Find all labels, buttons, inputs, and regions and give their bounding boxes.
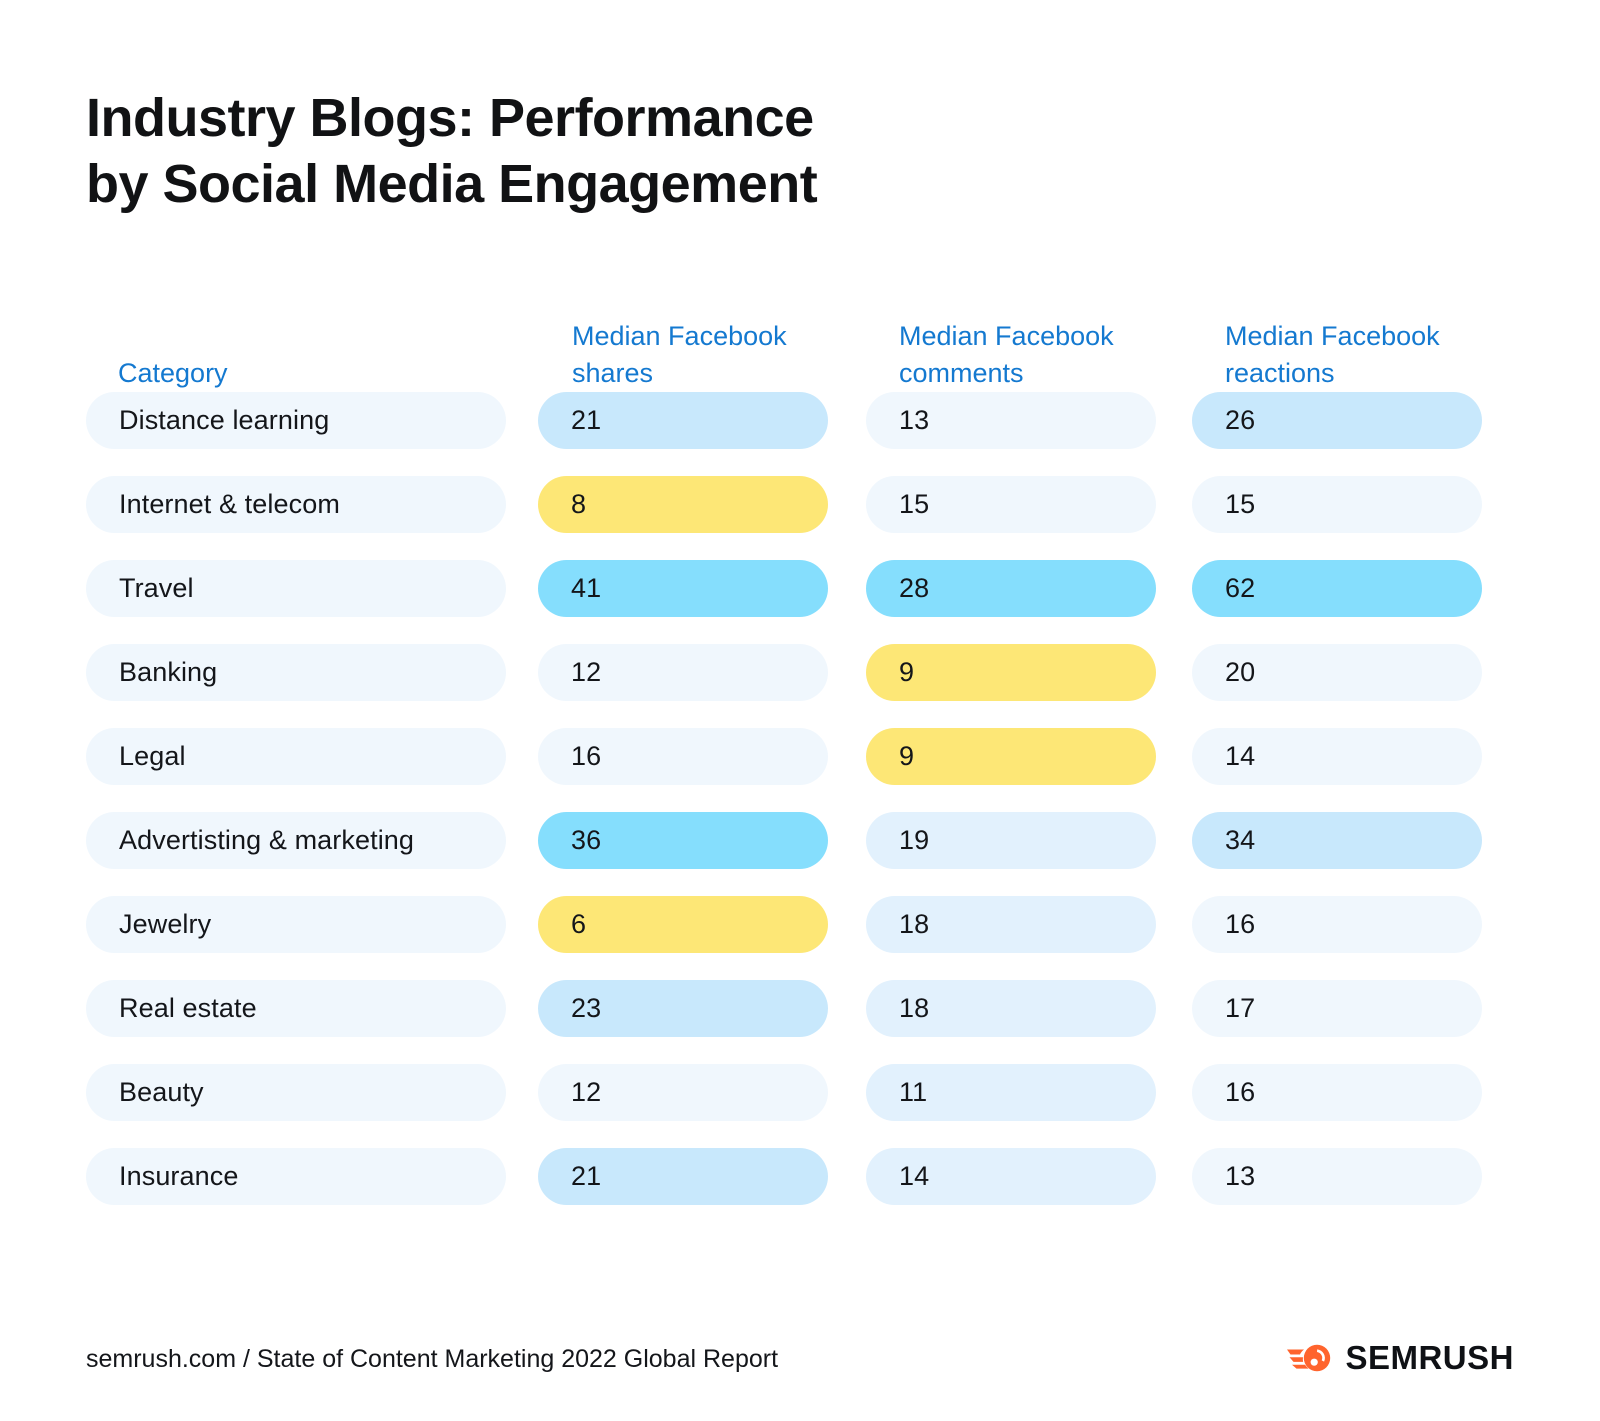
semrush-comet-icon	[1287, 1339, 1333, 1377]
table-row: Advertisting & marketing361934	[86, 812, 1486, 896]
category-cell: Distance learning	[86, 392, 506, 449]
reactions-cell: 34	[1192, 812, 1482, 869]
comments-cell: 18	[866, 980, 1156, 1037]
page-title: Industry Blogs: Performance by Social Me…	[86, 86, 1186, 218]
reactions-cell: 16	[1192, 1064, 1482, 1121]
table-row: Jewelry61816	[86, 896, 1486, 980]
table-row: Internet & telecom81515	[86, 476, 1486, 560]
category-cell: Legal	[86, 728, 506, 785]
comments-cell: 11	[866, 1064, 1156, 1121]
category-cell: Internet & telecom	[86, 476, 506, 533]
comments-cell: 18	[866, 896, 1156, 953]
column-header-reactions: Median Facebook reactions	[1225, 318, 1525, 393]
reactions-cell: 20	[1192, 644, 1482, 701]
category-cell: Travel	[86, 560, 506, 617]
comments-cell: 14	[866, 1148, 1156, 1205]
table-row: Real estate231817	[86, 980, 1486, 1064]
column-header-comments: Median Facebook comments	[899, 318, 1189, 393]
comments-cell: 15	[866, 476, 1156, 533]
reactions-cell: 15	[1192, 476, 1482, 533]
column-header-category: Category	[118, 355, 438, 392]
reactions-cell: 17	[1192, 980, 1482, 1037]
reactions-cell: 26	[1192, 392, 1482, 449]
footer: semrush.com / State of Content Marketing…	[86, 1339, 1514, 1379]
reactions-cell: 62	[1192, 560, 1482, 617]
table-body: Distance learning211326Internet & teleco…	[86, 392, 1486, 1232]
reactions-cell: 14	[1192, 728, 1482, 785]
footer-source-text: semrush.com / State of Content Marketing…	[86, 1345, 778, 1374]
engagement-table: Category Median Facebook shares Median F…	[86, 296, 1486, 1232]
reactions-cell: 13	[1192, 1148, 1482, 1205]
shares-cell: 21	[538, 392, 828, 449]
comments-cell: 28	[866, 560, 1156, 617]
shares-cell: 21	[538, 1148, 828, 1205]
table-row: Insurance211413	[86, 1148, 1486, 1232]
shares-cell: 6	[538, 896, 828, 953]
table-row: Travel412862	[86, 560, 1486, 644]
semrush-logo: SEMRUSH	[1287, 1339, 1514, 1377]
shares-cell: 12	[538, 1064, 828, 1121]
comments-cell: 9	[866, 728, 1156, 785]
category-cell: Jewelry	[86, 896, 506, 953]
table-row: Beauty121116	[86, 1064, 1486, 1148]
reactions-cell: 16	[1192, 896, 1482, 953]
table-row: Banking12920	[86, 644, 1486, 728]
category-cell: Real estate	[86, 980, 506, 1037]
shares-cell: 12	[538, 644, 828, 701]
semrush-wordmark: SEMRUSH	[1345, 1339, 1514, 1377]
column-header-shares: Median Facebook shares	[572, 318, 862, 393]
shares-cell: 23	[538, 980, 828, 1037]
category-cell: Banking	[86, 644, 506, 701]
shares-cell: 16	[538, 728, 828, 785]
table-row: Distance learning211326	[86, 392, 1486, 476]
comments-cell: 13	[866, 392, 1156, 449]
comments-cell: 19	[866, 812, 1156, 869]
table-row: Legal16914	[86, 728, 1486, 812]
table-header-row: Category Median Facebook shares Median F…	[86, 296, 1486, 392]
shares-cell: 36	[538, 812, 828, 869]
category-cell: Beauty	[86, 1064, 506, 1121]
category-cell: Insurance	[86, 1148, 506, 1205]
comments-cell: 9	[866, 644, 1156, 701]
category-cell: Advertisting & marketing	[86, 812, 506, 869]
shares-cell: 41	[538, 560, 828, 617]
shares-cell: 8	[538, 476, 828, 533]
